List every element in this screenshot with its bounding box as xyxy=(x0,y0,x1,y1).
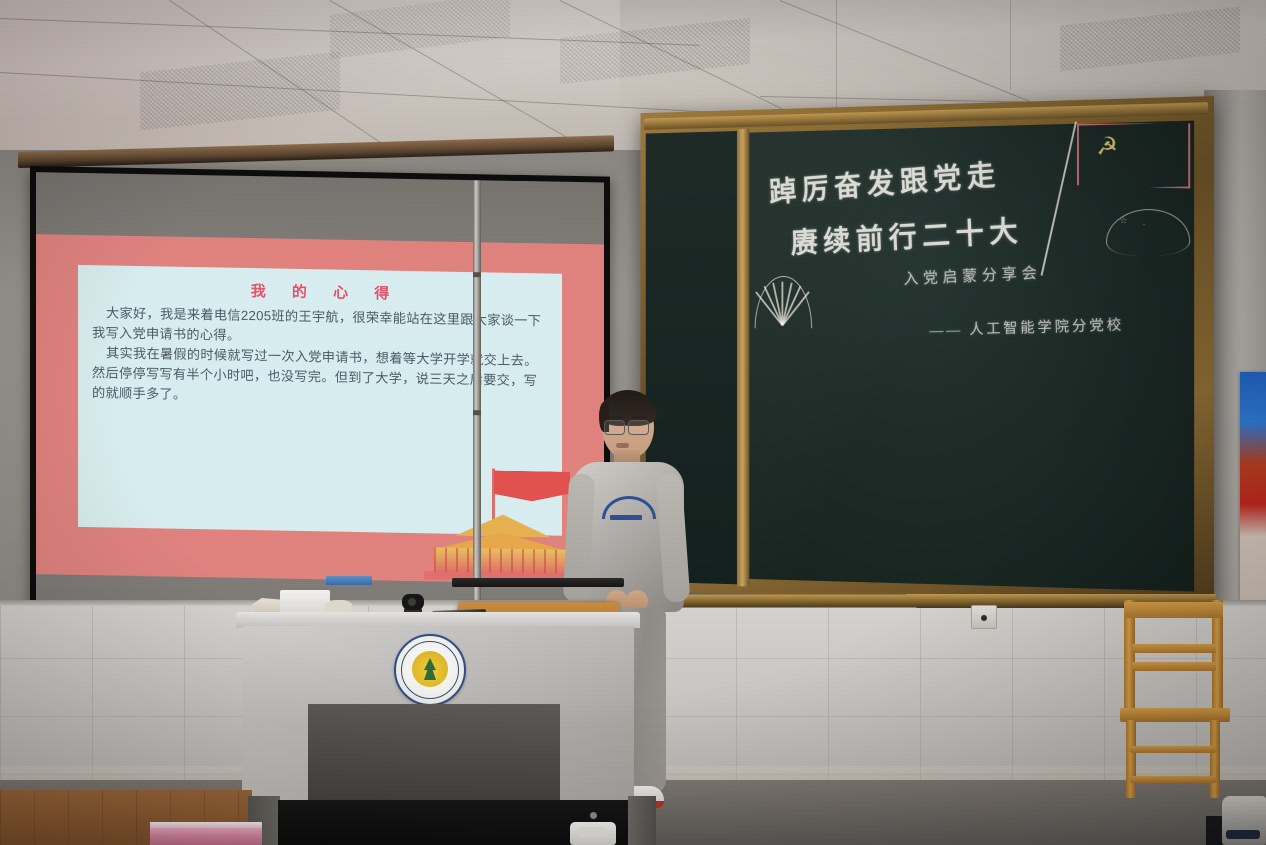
chair-leg xyxy=(1210,720,1220,798)
cabinet-latch[interactable] xyxy=(590,812,597,819)
flag-cloth xyxy=(1077,121,1190,191)
logo-bar xyxy=(610,515,642,520)
webcam-icon[interactable] xyxy=(402,594,424,610)
shoe-stripe xyxy=(1226,830,1260,839)
webcam-lens xyxy=(408,598,416,606)
screen-frame: 我 的 心 得 大家好，我是来着电信2205班的王宇航，很荣幸能站在这里跟大家谈… xyxy=(30,166,610,629)
chair-stretcher xyxy=(1130,776,1216,783)
glasses-left-lens xyxy=(604,420,625,435)
presenter-eyebrows xyxy=(608,416,648,419)
ceiling-grid-line xyxy=(836,0,837,110)
eyeglasses-icon xyxy=(604,420,652,433)
screen-surface: 我 的 心 得 大家好，我是来着电信2205班的王宇航，很荣幸能站在这里跟大家谈… xyxy=(36,172,604,620)
projector-screen: 我 的 心 得 大家好，我是来着电信2205班的王宇航，很荣幸能站在这里跟大家谈… xyxy=(18,152,614,622)
reading-board-edge xyxy=(452,578,624,587)
outlet-port xyxy=(981,615,987,621)
presentation-slide: 我 的 心 得 大家好，我是来着电信2205班的王宇航，很荣幸能站在这里跟大家谈… xyxy=(36,234,604,584)
star-mark: ☆ xyxy=(1120,215,1128,226)
white-blue-box[interactable] xyxy=(280,590,330,614)
microphone-pole xyxy=(473,180,481,620)
ceiling-mesh-panel xyxy=(1060,7,1240,72)
glasses-right-lens xyxy=(628,420,649,435)
hammer-sickle-icon: ☭ xyxy=(1096,132,1125,160)
chair-back-slat xyxy=(1132,644,1216,653)
wall-outlet xyxy=(971,605,997,629)
five-pointed-star-icon: ☆ xyxy=(1102,204,1190,288)
cabinet-right-side xyxy=(628,796,656,845)
university-seal xyxy=(394,634,466,706)
chair-back-post xyxy=(1124,600,1135,722)
wall-poster xyxy=(1240,372,1266,600)
box-label xyxy=(326,576,372,585)
microphone-pole-joint xyxy=(473,410,481,415)
presenter-mouth xyxy=(616,443,629,448)
shoe xyxy=(1222,796,1266,845)
pink-folder-top xyxy=(150,822,262,828)
blackboard-divider xyxy=(737,129,749,587)
classroom-presentation-photo: 踔厉奋发跟党走 赓续前行二十大 入党启蒙分享会 —— 人工智能学院分党校 xyxy=(0,0,1266,845)
chair-stretcher xyxy=(1130,746,1216,753)
chair-back-post xyxy=(1212,600,1223,722)
microphone-pole-joint xyxy=(473,272,481,277)
white-container[interactable] xyxy=(570,822,616,845)
container-lid xyxy=(579,827,607,837)
wooden-chair[interactable] xyxy=(1120,600,1232,800)
folding-fan-icon xyxy=(753,274,812,326)
blackboard-frame: 踔厉奋发跟党走 赓续前行二十大 入党启蒙分享会 —— 人工智能学院分党校 xyxy=(641,96,1214,608)
blackboard-surface: 踔厉奋发跟党走 赓续前行二十大 入党启蒙分享会 —— 人工智能学院分党校 xyxy=(749,121,1194,592)
shirt-logo-icon xyxy=(602,496,650,524)
chair-leg xyxy=(1126,720,1136,798)
glasses-bridge xyxy=(623,425,628,426)
chair-top-rail xyxy=(1124,602,1223,618)
ceiling-grid-line xyxy=(1010,0,1011,90)
chair-back-slat xyxy=(1132,662,1216,671)
